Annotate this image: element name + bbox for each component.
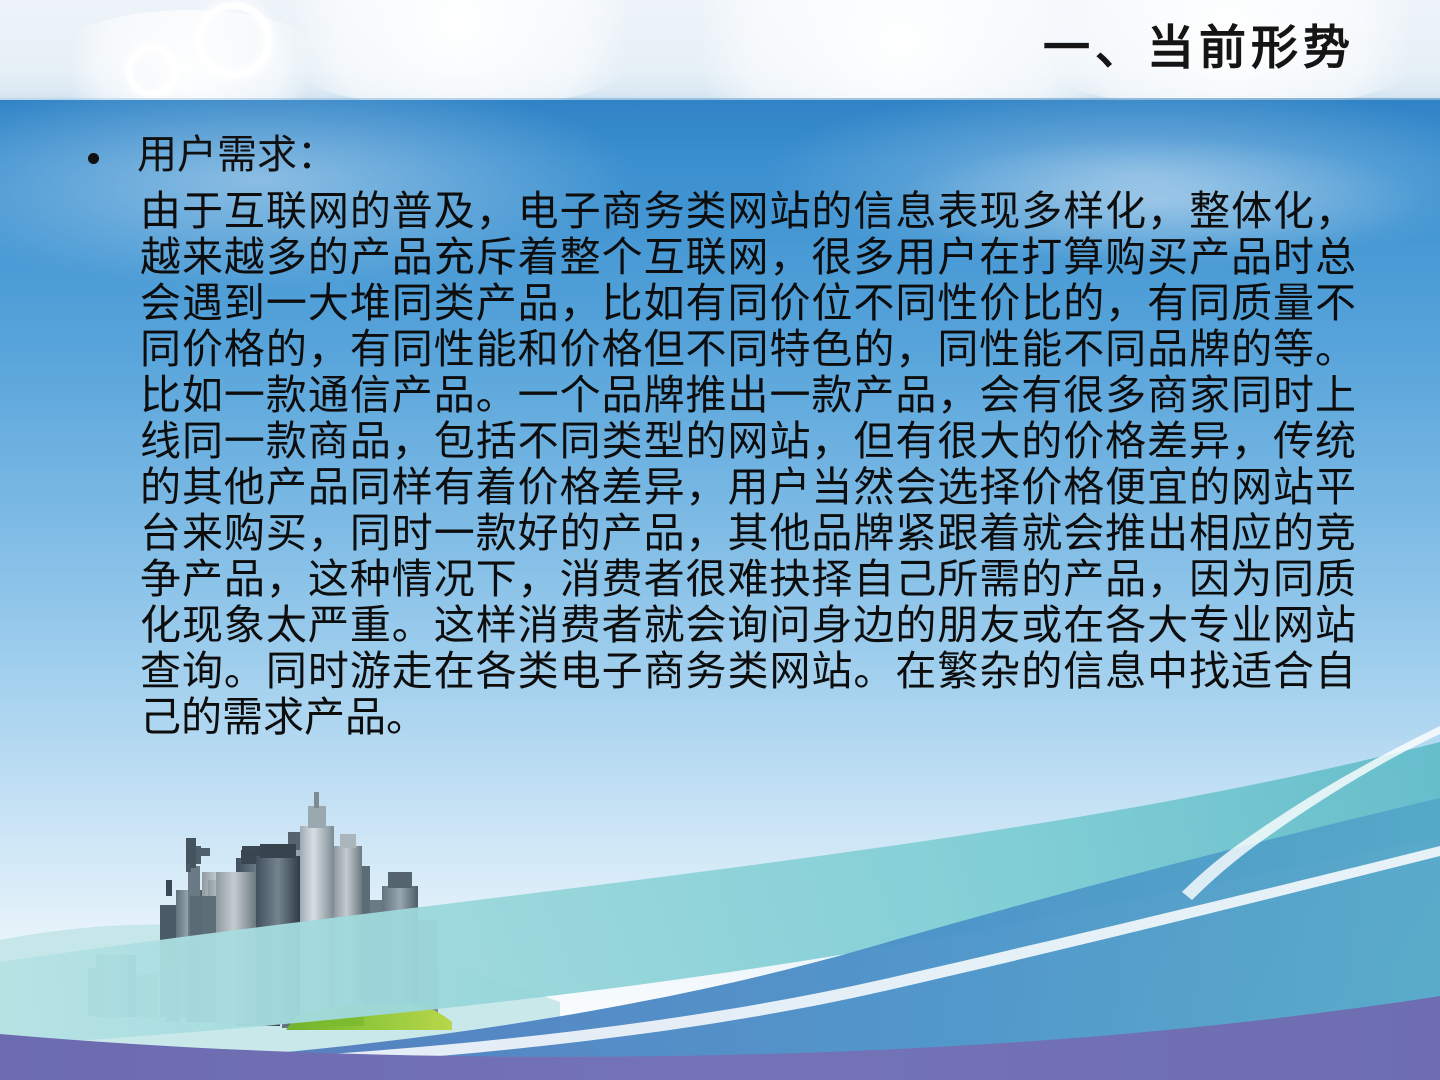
presentation-slide: 一、当前形势 (0, 0, 1440, 1080)
bullet-item-user-demand: 用户需求： (88, 132, 337, 178)
slide-body: 用户需求： 由于互联网的普及，电子商务类网站的信息表现多样化，整体化，越来越多的… (0, 100, 1440, 1080)
cloud-wash-icon (40, 10, 340, 100)
cloud-wash-icon (250, 0, 670, 100)
bullet-point-icon (88, 153, 99, 164)
page-title: 一、当前形势 (1043, 24, 1355, 71)
body-paragraph: 由于互联网的普及，电子商务类网站的信息表现多样化，整体化，越来越多的产品充斥着整… (140, 188, 1356, 740)
bullet-item-label: 用户需求： (137, 132, 337, 178)
bubble-small-icon (126, 45, 178, 97)
bubble-large-icon (196, 2, 272, 78)
